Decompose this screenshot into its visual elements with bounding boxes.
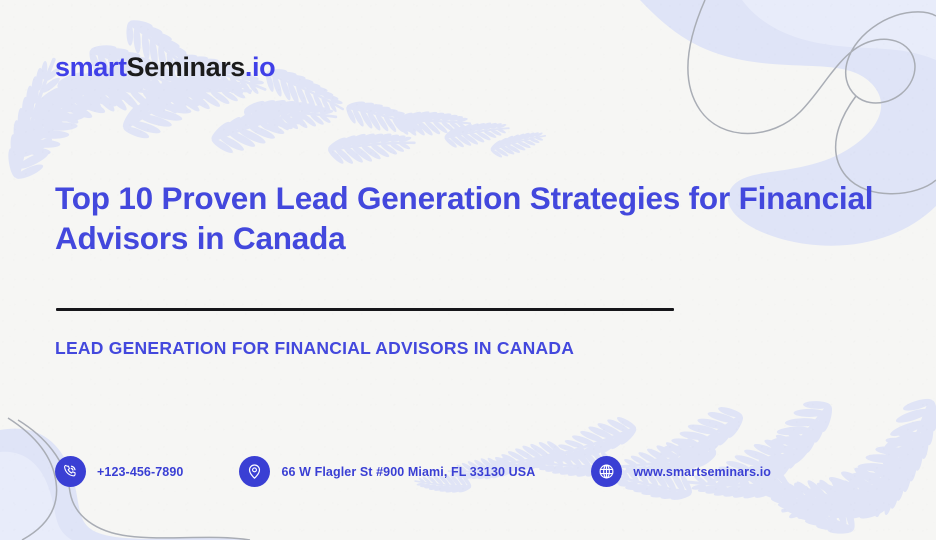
contact-item-address[interactable]: 66 W Flagler St #900 Miami, FL 33130 USA bbox=[239, 456, 535, 487]
logo-text-smart: smart bbox=[55, 52, 127, 82]
footer-contact-bar: +123-456-7890 66 W Flagler St #900 Miami… bbox=[55, 456, 771, 487]
contact-text-address: 66 W Flagler St #900 Miami, FL 33130 USA bbox=[281, 465, 535, 479]
contact-text-website: www.smartseminars.io bbox=[633, 465, 771, 479]
contact-text-phone: +123-456-7890 bbox=[97, 465, 183, 479]
logo-text-seminars: Seminars bbox=[127, 52, 245, 82]
brand-logo: smartSeminars.io bbox=[55, 52, 275, 83]
phone-icon bbox=[55, 456, 86, 487]
presentation-slide: smartSeminars.io Top 10 Proven Lead Gene… bbox=[0, 0, 936, 540]
contact-item-phone[interactable]: +123-456-7890 bbox=[55, 456, 183, 487]
page-subtitle: LEAD GENERATION FOR FINANCIAL ADVISORS I… bbox=[55, 338, 574, 359]
contact-item-website[interactable]: www.smartseminars.io bbox=[591, 456, 771, 487]
title-divider bbox=[56, 308, 674, 311]
location-pin-icon bbox=[239, 456, 270, 487]
globe-icon bbox=[591, 456, 622, 487]
logo-text-io: .io bbox=[245, 52, 275, 82]
page-title: Top 10 Proven Lead Generation Strategies… bbox=[55, 178, 875, 258]
